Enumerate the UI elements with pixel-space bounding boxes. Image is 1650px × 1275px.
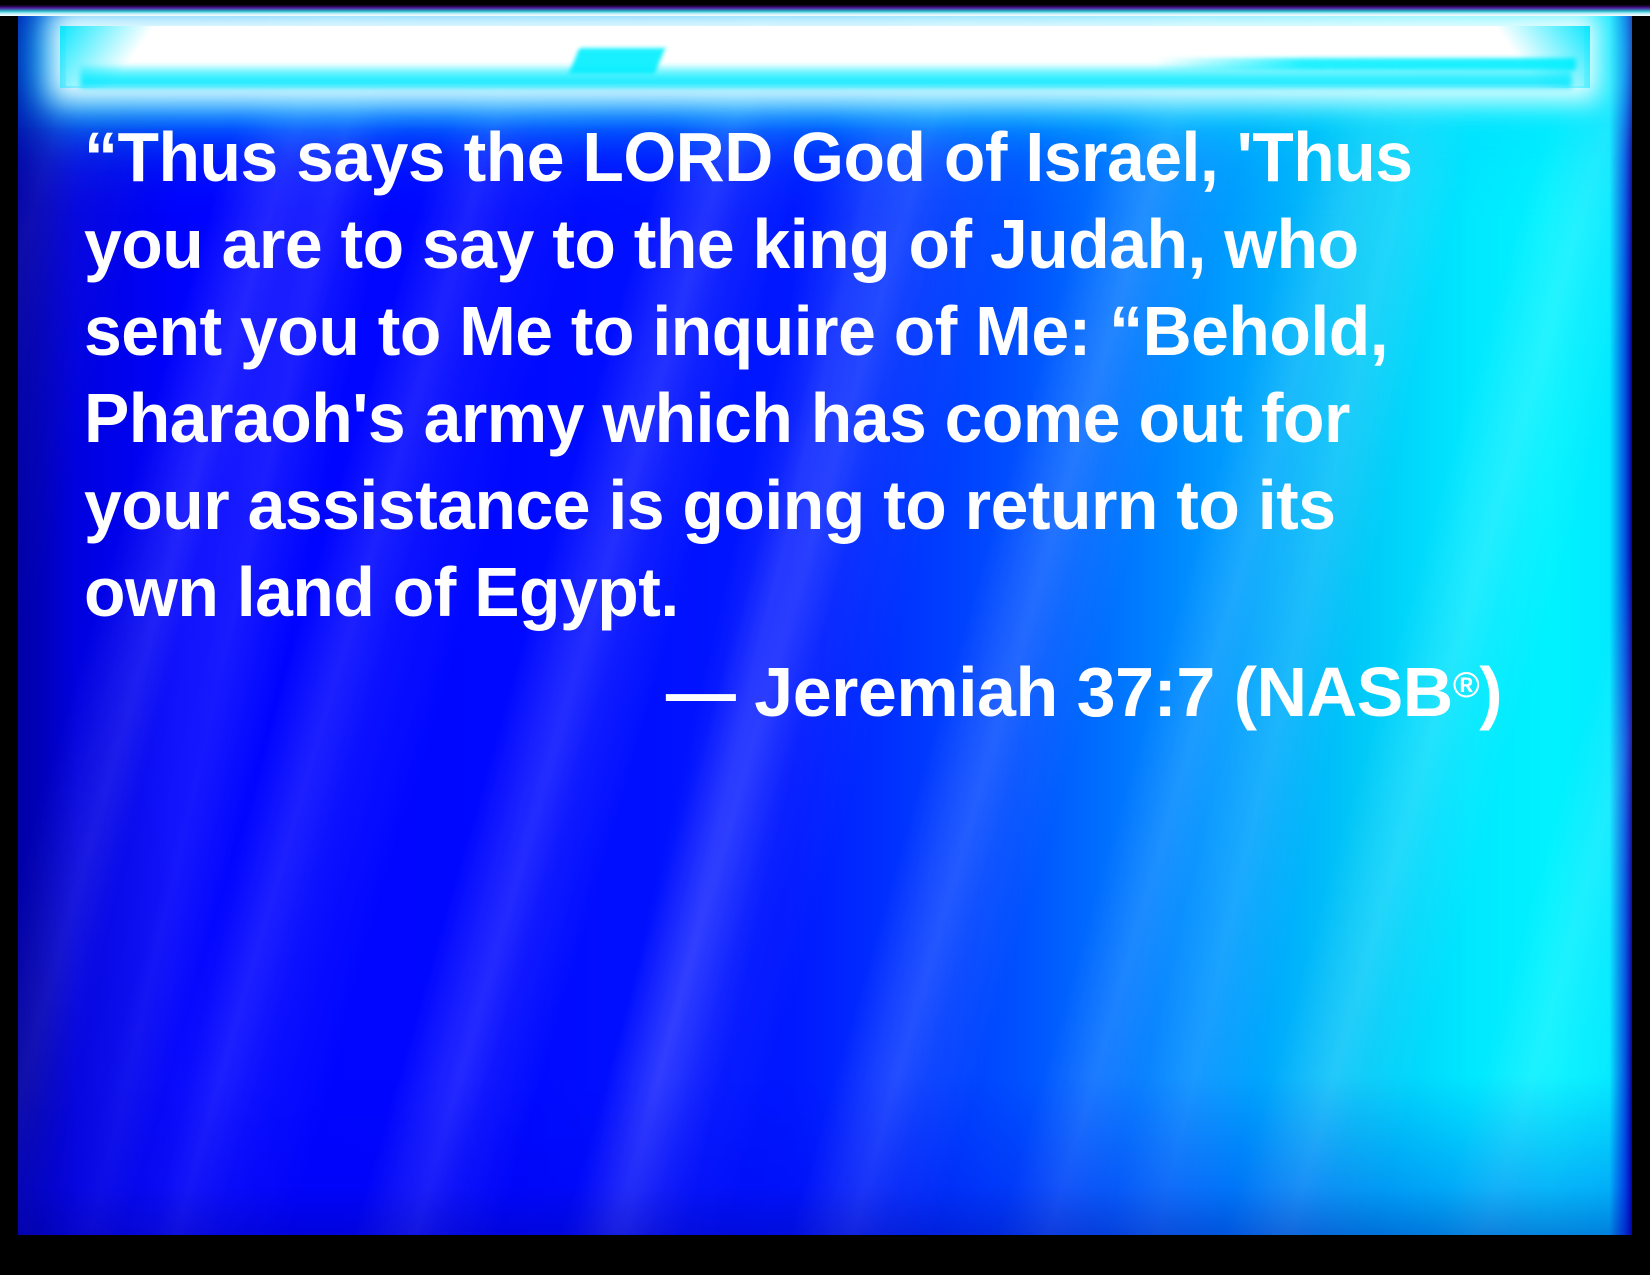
verse-attribution: — Jeremiah 37:7 (NASB®) [84, 636, 1504, 741]
attribution-close-paren: ) [1479, 653, 1502, 731]
slide-canvas: “Thus says the LORD God of Israel, 'Thus… [18, 14, 1632, 1235]
verse-line-4: Pharaoh's army which has come out for [84, 375, 1461, 462]
verse-line-2: you are to say to the king of Judah, who [84, 201, 1461, 288]
verse-slide: “Thus says the LORD God of Israel, 'Thus… [0, 0, 1650, 1275]
registered-trademark-icon: ® [1453, 664, 1479, 705]
top-color-fringe [0, 0, 1650, 16]
glow-right-streak [1156, 58, 1576, 70]
attribution-reference: — Jeremiah 37:7 (NASB [666, 653, 1453, 731]
verse-line-5: your assistance is going to return to it… [84, 462, 1461, 549]
glow-left-bevel [60, 26, 180, 88]
glow-right-bevel [1470, 26, 1590, 88]
verse-line-3: sent you to Me to inquire of Me: “Behold… [84, 288, 1461, 375]
glow-notch-artifact [569, 48, 666, 74]
verse-line-6: own land of Egypt. [84, 549, 1461, 636]
top-glow-banner [66, 26, 1584, 86]
verse-text-block: “Thus says the LORD God of Israel, 'Thus… [84, 114, 1504, 741]
background-bottom-fade [18, 1075, 1632, 1235]
verse-line-1: “Thus says the LORD God of Israel, 'Thus [84, 114, 1461, 201]
